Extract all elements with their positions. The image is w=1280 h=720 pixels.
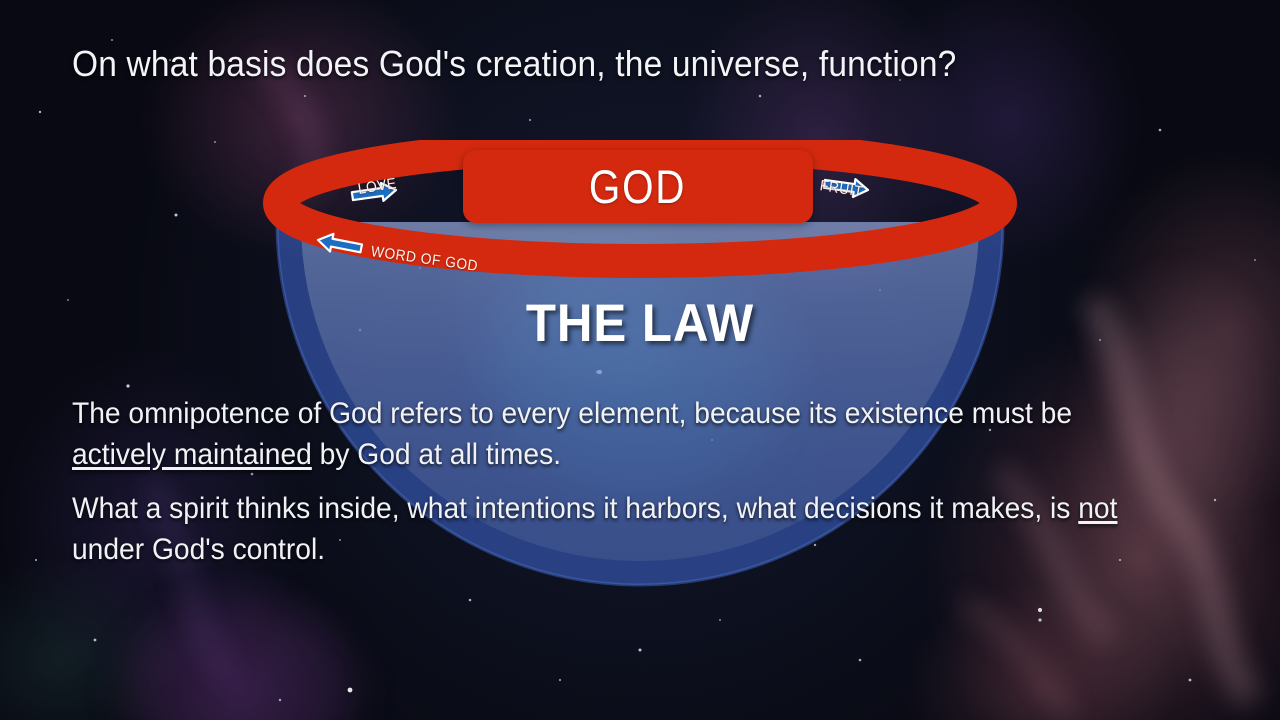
slide-title: On what basis does God's creation, the u… xyxy=(72,43,956,85)
ring-label-fruit: FRUIT xyxy=(819,177,865,201)
paragraph-1-before: The omnipotence of God refers to every e… xyxy=(72,397,1072,430)
nebula-pink-right xyxy=(0,0,1280,720)
paragraph-2-before: What a spirit thinks inside, what intent… xyxy=(72,492,1078,525)
ring-label-word-of-god: WORD OF GOD xyxy=(370,243,479,275)
arrow-right-word-of-god xyxy=(316,231,363,257)
bowl-shape xyxy=(0,0,1280,720)
paragraph-2-after: under God's control. xyxy=(72,533,325,566)
paragraph-2-emphasis: not xyxy=(1078,492,1117,525)
space-background xyxy=(0,0,1280,720)
nebula-teal-center xyxy=(0,0,1280,720)
god-box-label: GOD xyxy=(589,163,686,210)
red-ring xyxy=(0,0,1280,720)
paragraph-2: What a spirit thinks inside, what intent… xyxy=(72,489,1125,570)
nebula-violet-left xyxy=(0,0,1280,720)
slide-canvas: LOVE FRUIT WORD OF GOD GOD On what basis… xyxy=(0,0,1280,720)
star-field xyxy=(0,0,1280,720)
ring-label-love: LOVE xyxy=(357,175,398,198)
law-heading: THE LAW xyxy=(45,296,1235,352)
nebula-magenta-top xyxy=(0,0,1280,720)
god-box: GOD xyxy=(463,150,813,223)
paragraph-1: The omnipotence of God refers to every e… xyxy=(72,394,1125,475)
nebula-filaments xyxy=(0,0,1280,720)
body-copy: The omnipotence of God refers to every e… xyxy=(72,394,1192,570)
paragraph-1-after: by God at all times. xyxy=(312,438,561,471)
paragraph-1-emphasis: actively maintained xyxy=(72,438,312,471)
